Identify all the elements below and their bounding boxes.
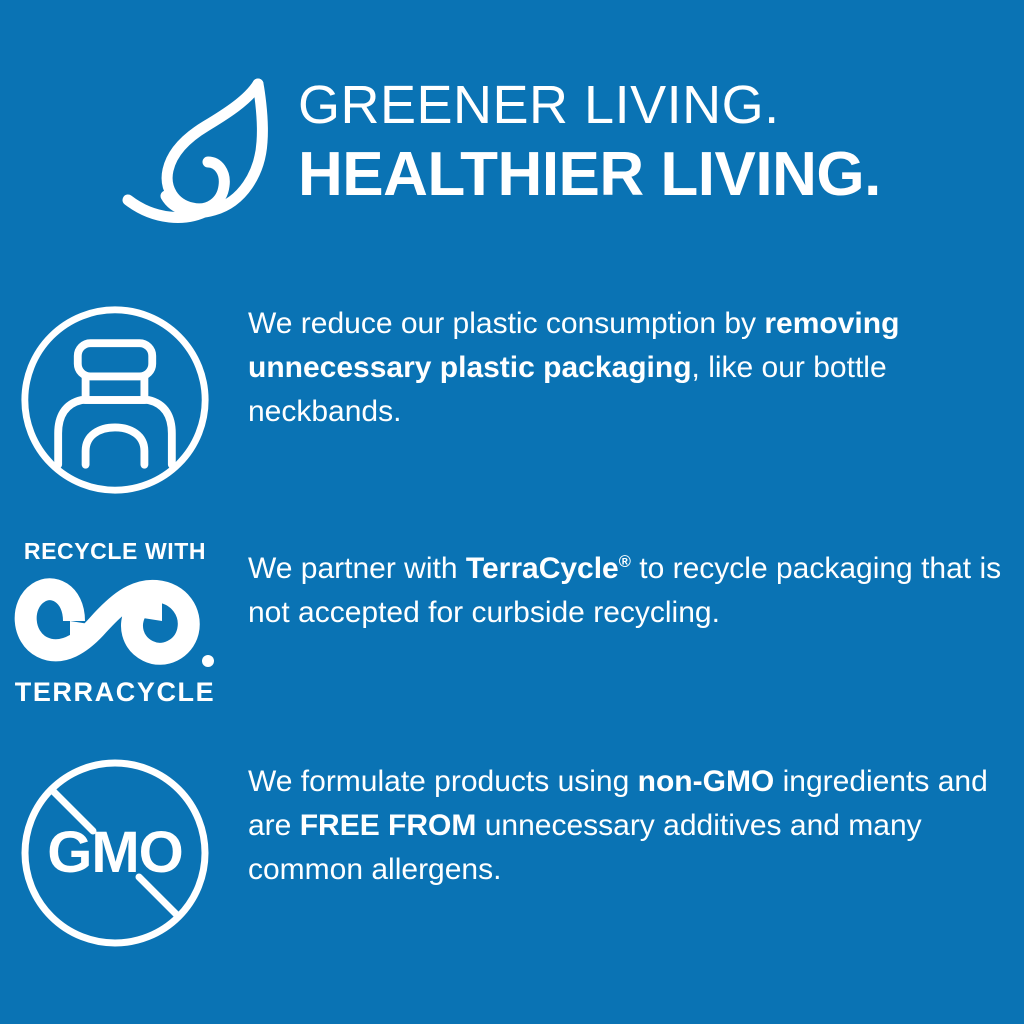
benefit-text-non-gmo: We formulate products using non-GMO ingr… <box>248 750 1024 892</box>
leaf-icon <box>108 70 288 230</box>
bottle-neckband-circle-icon <box>0 300 230 500</box>
no-gmo-symbol: GMO <box>17 755 213 951</box>
headline-block: GREENER LIVING. HEALTHIER LIVING. <box>298 78 998 206</box>
headline-line-1: GREENER LIVING. <box>298 78 998 132</box>
terracycle-bottom-label: TERRACYCLE <box>15 679 216 706</box>
benefit-text-plastic-reduction: We reduce our plastic consumption by rem… <box>248 300 1024 434</box>
greener-living-poster: GREENER LIVING. HEALTHIER LIVING. We red… <box>0 0 1024 1024</box>
infinity-recycle-icon <box>12 569 218 673</box>
no-gmo-icon: GMO <box>0 750 230 955</box>
benefit-row-terracycle: RECYCLE WITH TERRACYCLE We partner with … <box>0 525 1024 720</box>
benefit-text-terracycle: We partner with TerraCycle® to recycle p… <box>248 525 1024 635</box>
terracycle-top-label: RECYCLE WITH <box>24 540 206 563</box>
terracycle-logo-icon: RECYCLE WITH TERRACYCLE <box>0 525 230 720</box>
poster-header: GREENER LIVING. HEALTHIER LIVING. <box>0 62 1024 242</box>
headline-line-2: HEALTHIER LIVING. <box>298 144 998 206</box>
benefit-row-non-gmo: GMO We formulate products using non-GMO … <box>0 750 1024 955</box>
terracycle-logo: RECYCLE WITH TERRACYCLE <box>9 540 221 706</box>
benefit-row-plastic-reduction: We reduce our plastic consumption by rem… <box>0 300 1024 500</box>
